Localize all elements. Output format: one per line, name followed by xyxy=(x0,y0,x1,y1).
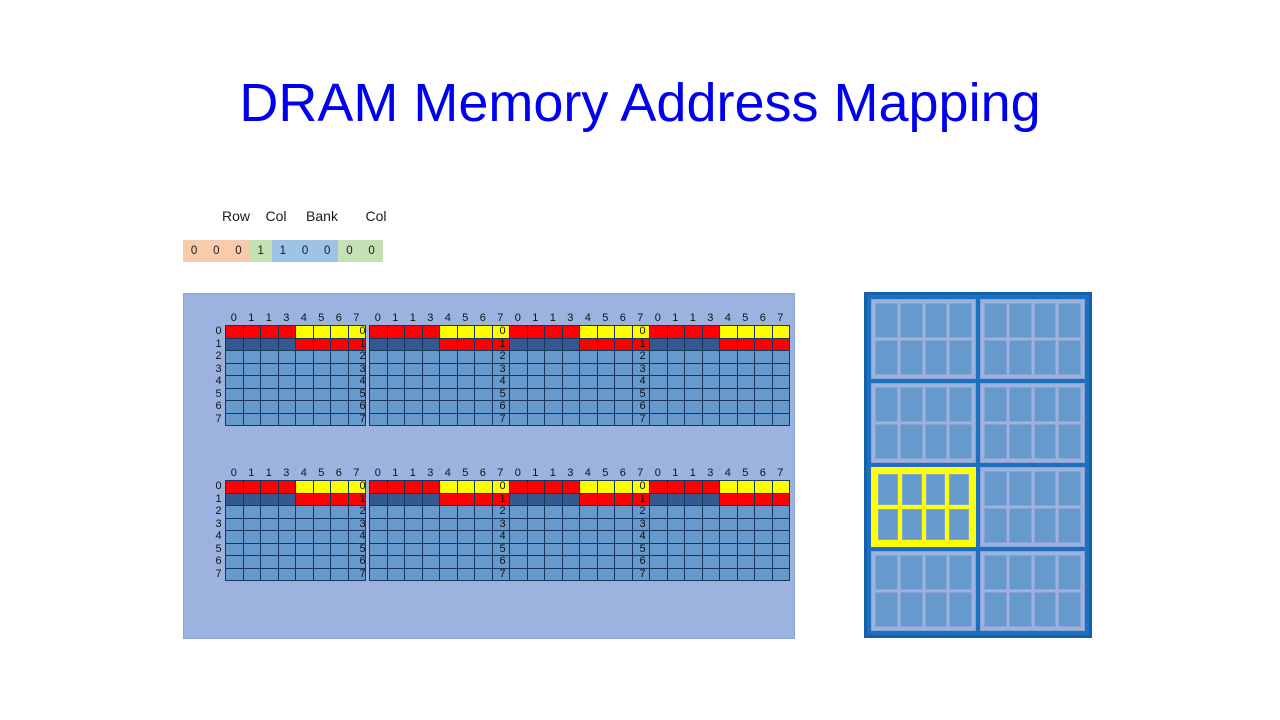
memory-cell-r6c5 xyxy=(738,401,756,414)
memory-cell-r3c6 xyxy=(475,519,493,532)
row-header-column: 01234567 xyxy=(212,325,225,426)
memory-cell-r1c1 xyxy=(668,339,686,352)
chip-subcell-6 xyxy=(926,509,946,540)
chip-subcell-4 xyxy=(875,340,898,375)
column-header-1: 1 xyxy=(243,466,261,480)
memory-cell-r5c2 xyxy=(545,389,563,402)
column-header-6: 6 xyxy=(474,311,492,325)
memory-cell-r2c4 xyxy=(440,351,458,364)
memory-cell-r7c5 xyxy=(314,414,332,427)
memory-cell-r1c2 xyxy=(405,494,423,507)
memory-cell-r4c3 xyxy=(703,376,721,389)
memory-cell-r5c5 xyxy=(458,389,476,402)
memory-cell-r7c4 xyxy=(296,414,314,427)
chip-subcell-2 xyxy=(925,303,948,338)
memory-cell-r7c3 xyxy=(423,414,441,427)
memory-cell-r4c0 xyxy=(370,531,388,544)
memory-cell-r5c0 xyxy=(226,389,244,402)
memory-cell-r6c6 xyxy=(331,401,349,414)
address-mapping-diagram: RowColBankCol 000110000 xyxy=(183,208,405,262)
memory-cell-r0c5 xyxy=(598,326,616,339)
address-bit-6: 0 xyxy=(316,240,338,262)
memory-cell-r6c2 xyxy=(685,401,703,414)
memory-cell-r1c0 xyxy=(510,494,528,507)
memory-cell-r6c0 xyxy=(370,556,388,569)
memory-cell-r0c2 xyxy=(545,481,563,494)
memory-cell-r5c6 xyxy=(331,544,349,557)
column-header-4: 4 xyxy=(295,466,313,480)
memory-cell-r3c0 xyxy=(510,364,528,377)
bank-grid-5: 0113456701234567 xyxy=(356,466,510,581)
memory-cell-r2c4 xyxy=(720,506,738,519)
row-header-3: 3 xyxy=(356,518,369,531)
memory-cell-r2c0 xyxy=(226,351,244,364)
memory-cell-r2c6 xyxy=(331,506,349,519)
memory-cell-r6c4 xyxy=(440,401,458,414)
memory-cell-r3c5 xyxy=(598,519,616,532)
memory-cell-r4c2 xyxy=(545,376,563,389)
memory-cell-r5c5 xyxy=(314,544,332,557)
memory-cell-r2c0 xyxy=(370,351,388,364)
memory-cell-r7c2 xyxy=(685,414,703,427)
memory-cell-r0c4 xyxy=(580,326,598,339)
chip-subcell-2 xyxy=(1034,303,1057,338)
chip-subcell-7 xyxy=(1058,592,1081,627)
memory-cell-grid xyxy=(649,480,790,581)
row-header-6: 6 xyxy=(356,555,369,568)
column-header-7: 7 xyxy=(772,311,790,325)
memory-cell-r6c4 xyxy=(580,401,598,414)
memory-cell-r7c5 xyxy=(738,569,756,582)
row-header-7: 7 xyxy=(212,413,225,426)
memory-cell-r0c0 xyxy=(226,326,244,339)
memory-cell-r6c3 xyxy=(423,556,441,569)
memory-cell-r6c3 xyxy=(563,401,581,414)
memory-cell-r0c2 xyxy=(545,326,563,339)
chip-subcell-1 xyxy=(1009,555,1032,590)
chip-subcell-5 xyxy=(900,340,923,375)
memory-cell-r6c5 xyxy=(598,401,616,414)
address-bit-7: 0 xyxy=(338,240,360,262)
column-header-5: 5 xyxy=(737,466,755,480)
memory-cell-r3c5 xyxy=(458,519,476,532)
memory-cell-r2c2 xyxy=(685,351,703,364)
memory-cell-r2c6 xyxy=(475,506,493,519)
memory-cell-r1c1 xyxy=(388,494,406,507)
memory-cell-r2c2 xyxy=(685,506,703,519)
memory-cell-r4c0 xyxy=(650,376,668,389)
memory-cell-r6c0 xyxy=(226,401,244,414)
memory-cell-r1c3 xyxy=(563,494,581,507)
memory-cell-r5c1 xyxy=(668,544,686,557)
memory-cell-r2c1 xyxy=(388,506,406,519)
chip-subcell-1 xyxy=(900,303,923,338)
chip-subcell-4 xyxy=(984,508,1007,543)
memory-cell-r7c7 xyxy=(773,414,791,427)
memory-cell-r2c4 xyxy=(296,506,314,519)
memory-cell-r5c0 xyxy=(650,389,668,402)
bank-grid-7: 0113456701234567 xyxy=(636,466,790,581)
memory-cell-r3c2 xyxy=(261,519,279,532)
memory-cell-r3c1 xyxy=(668,364,686,377)
memory-cell-r6c1 xyxy=(668,556,686,569)
memory-cell-r3c5 xyxy=(738,364,756,377)
memory-cell-r2c0 xyxy=(650,506,668,519)
chip-subcell-3 xyxy=(1058,387,1081,422)
chip-subcell-4 xyxy=(984,424,1007,459)
memory-cell-r0c3 xyxy=(563,481,581,494)
chip-subcell-5 xyxy=(1009,592,1032,627)
memory-cell-r4c0 xyxy=(510,531,528,544)
chip-subcell-2 xyxy=(1034,555,1057,590)
bank-grid-0: 0113456701234567 xyxy=(212,311,366,426)
memory-cell-r7c1 xyxy=(244,569,262,582)
memory-cell-r2c5 xyxy=(314,506,332,519)
column-header-6: 6 xyxy=(330,311,348,325)
memory-cell-r6c0 xyxy=(370,401,388,414)
memory-cell-grid xyxy=(369,325,510,426)
memory-cell-r4c0 xyxy=(226,531,244,544)
row-header-2: 2 xyxy=(636,505,649,518)
chip-subcell-4 xyxy=(984,592,1007,627)
memory-cell-r0c1 xyxy=(244,481,262,494)
memory-cell-r5c6 xyxy=(331,389,349,402)
memory-cell-r2c1 xyxy=(528,506,546,519)
memory-cell-r2c4 xyxy=(580,351,598,364)
memory-cell-r1c5 xyxy=(458,494,476,507)
memory-cell-r0c2 xyxy=(261,481,279,494)
memory-cell-r0c4 xyxy=(720,481,738,494)
page-title: DRAM Memory Address Mapping xyxy=(0,72,1280,134)
memory-cell-r3c6 xyxy=(475,364,493,377)
column-header-0: 0 xyxy=(649,311,667,325)
memory-cell-r5c0 xyxy=(370,544,388,557)
row-header-0: 0 xyxy=(496,480,509,493)
memory-cell-r3c6 xyxy=(331,364,349,377)
row-header-0: 0 xyxy=(636,480,649,493)
memory-cell-r4c5 xyxy=(458,376,476,389)
memory-cell-r1c4 xyxy=(720,339,738,352)
memory-cell-r0c0 xyxy=(650,326,668,339)
column-header-row: 01134567 xyxy=(225,311,366,325)
address-bit-row: 000110000 xyxy=(183,240,405,262)
memory-cell-r4c2 xyxy=(405,531,423,544)
memory-cell-r2c0 xyxy=(370,506,388,519)
address-bit-8: 0 xyxy=(361,240,383,262)
column-header-0: 0 xyxy=(225,311,243,325)
chip-block-r0c0 xyxy=(871,299,976,379)
chip-subcell-5 xyxy=(900,592,923,627)
memory-cell-r6c6 xyxy=(755,556,773,569)
memory-cell-r4c6 xyxy=(755,376,773,389)
address-field-label-bank-2: Bank xyxy=(289,208,355,224)
row-header-column: 01234567 xyxy=(636,325,649,426)
chip-subcell-2 xyxy=(1034,387,1057,422)
memory-cell-r0c4 xyxy=(440,481,458,494)
memory-cell-r2c5 xyxy=(598,351,616,364)
memory-cell-r7c5 xyxy=(738,414,756,427)
memory-cell-r5c2 xyxy=(545,544,563,557)
row-header-1: 1 xyxy=(212,493,225,506)
column-header-row: 01134567 xyxy=(509,466,650,480)
memory-cell-r0c4 xyxy=(720,326,738,339)
row-header-4: 4 xyxy=(356,530,369,543)
memory-cell-r3c2 xyxy=(545,364,563,377)
memory-cell-r5c3 xyxy=(563,389,581,402)
memory-cell-r0c7 xyxy=(773,481,791,494)
memory-cell-r7c6 xyxy=(331,569,349,582)
memory-cell-r4c3 xyxy=(423,531,441,544)
row-header-3: 3 xyxy=(636,518,649,531)
memory-cell-r7c3 xyxy=(423,569,441,582)
column-header-2: 1 xyxy=(684,311,702,325)
chip-subcell-5 xyxy=(1009,424,1032,459)
chip-subcell-3 xyxy=(1058,303,1081,338)
memory-cell-r5c4 xyxy=(720,389,738,402)
memory-cell-r5c4 xyxy=(440,389,458,402)
chip-subcell-7 xyxy=(1058,508,1081,543)
memory-cell-r4c6 xyxy=(331,531,349,544)
column-header-row: 01134567 xyxy=(649,311,790,325)
memory-cell-r0c5 xyxy=(458,326,476,339)
memory-cell-r0c2 xyxy=(685,481,703,494)
memory-cell-r0c3 xyxy=(279,481,297,494)
memory-cell-r7c1 xyxy=(244,414,262,427)
address-field-labels: RowColBankCol xyxy=(183,208,405,230)
memory-cell-r1c4 xyxy=(296,339,314,352)
row-header-3: 3 xyxy=(636,363,649,376)
column-header-5: 5 xyxy=(457,311,475,325)
memory-cell-r1c2 xyxy=(685,339,703,352)
memory-cell-r5c6 xyxy=(755,389,773,402)
memory-cell-r1c6 xyxy=(615,339,633,352)
column-header-row: 01134567 xyxy=(509,311,650,325)
memory-cell-r2c5 xyxy=(458,506,476,519)
memory-cell-r1c0 xyxy=(226,339,244,352)
memory-cell-r6c6 xyxy=(615,401,633,414)
chip-subcell-6 xyxy=(925,424,948,459)
memory-cell-r4c0 xyxy=(370,376,388,389)
chip-subcell-7 xyxy=(949,592,972,627)
memory-cell-r5c2 xyxy=(261,544,279,557)
column-header-3: 3 xyxy=(278,466,296,480)
chip-subcell-2 xyxy=(925,555,948,590)
memory-cell-r4c2 xyxy=(405,376,423,389)
column-header-3: 3 xyxy=(422,311,440,325)
memory-cell-r4c2 xyxy=(261,376,279,389)
memory-cell-r6c4 xyxy=(440,556,458,569)
column-header-6: 6 xyxy=(754,311,772,325)
memory-cell-r3c0 xyxy=(510,519,528,532)
memory-cell-r2c5 xyxy=(598,506,616,519)
column-header-2: 1 xyxy=(544,311,562,325)
memory-cell-r1c2 xyxy=(261,339,279,352)
memory-cell-r4c6 xyxy=(615,376,633,389)
memory-cell-r3c3 xyxy=(563,364,581,377)
memory-cell-r1c6 xyxy=(331,339,349,352)
memory-cell-r4c6 xyxy=(475,531,493,544)
memory-cell-r5c2 xyxy=(685,389,703,402)
row-header-0: 0 xyxy=(356,325,369,338)
memory-cell-r3c4 xyxy=(580,364,598,377)
chip-subcell-7 xyxy=(949,509,969,540)
memory-cell-r0c3 xyxy=(279,326,297,339)
memory-cell-r2c5 xyxy=(314,351,332,364)
memory-cell-r6c2 xyxy=(545,401,563,414)
row-header-5: 5 xyxy=(356,388,369,401)
memory-cell-r5c4 xyxy=(440,544,458,557)
memory-cell-r1c5 xyxy=(314,339,332,352)
row-header-0: 0 xyxy=(636,325,649,338)
memory-cell-r7c5 xyxy=(598,414,616,427)
memory-cell-r2c1 xyxy=(244,506,262,519)
memory-cell-r5c3 xyxy=(423,389,441,402)
row-header-2: 2 xyxy=(356,350,369,363)
memory-cell-r0c6 xyxy=(475,326,493,339)
memory-cell-r3c1 xyxy=(388,519,406,532)
column-header-3: 3 xyxy=(422,466,440,480)
memory-cell-grid xyxy=(369,480,510,581)
row-header-5: 5 xyxy=(212,543,225,556)
chip-subcell-1 xyxy=(1009,387,1032,422)
memory-cell-r0c4 xyxy=(296,326,314,339)
memory-cell-grid xyxy=(225,480,366,581)
memory-cell-r7c6 xyxy=(331,414,349,427)
row-header-column: 01234567 xyxy=(356,325,369,426)
memory-cell-r5c0 xyxy=(650,544,668,557)
memory-cell-r7c1 xyxy=(388,569,406,582)
column-header-3: 3 xyxy=(278,311,296,325)
memory-cell-r6c5 xyxy=(738,556,756,569)
memory-cell-r2c2 xyxy=(261,351,279,364)
memory-cell-r2c2 xyxy=(545,506,563,519)
memory-cell-r6c0 xyxy=(510,556,528,569)
memory-cell-r2c6 xyxy=(331,351,349,364)
chip-subcell-3 xyxy=(1058,471,1081,506)
row-header-4: 4 xyxy=(496,530,509,543)
memory-cell-r6c1 xyxy=(244,556,262,569)
memory-cell-r1c1 xyxy=(244,494,262,507)
memory-cell-r7c4 xyxy=(720,569,738,582)
memory-cell-r4c0 xyxy=(510,376,528,389)
memory-cell-r3c5 xyxy=(738,519,756,532)
memory-cell-r5c4 xyxy=(580,389,598,402)
memory-cell-r7c2 xyxy=(405,569,423,582)
memory-cell-r2c4 xyxy=(720,351,738,364)
memory-cell-r4c6 xyxy=(331,376,349,389)
memory-cell-r7c4 xyxy=(580,414,598,427)
memory-cell-r7c3 xyxy=(563,414,581,427)
memory-cell-r4c3 xyxy=(279,531,297,544)
row-header-7: 7 xyxy=(356,413,369,426)
memory-cell-r4c4 xyxy=(440,376,458,389)
row-header-column: 01234567 xyxy=(496,325,509,426)
address-field-label-row-0: Row xyxy=(203,208,269,224)
memory-cell-r5c4 xyxy=(296,389,314,402)
memory-cell-r1c2 xyxy=(545,339,563,352)
memory-cell-r2c6 xyxy=(755,351,773,364)
row-header-1: 1 xyxy=(356,338,369,351)
column-header-0: 0 xyxy=(369,466,387,480)
memory-cell-r6c2 xyxy=(261,556,279,569)
row-header-4: 4 xyxy=(212,530,225,543)
chip-subcell-4 xyxy=(878,509,898,540)
memory-cell-r6c0 xyxy=(650,401,668,414)
chip-subcell-2 xyxy=(925,387,948,422)
chip-subcell-6 xyxy=(925,340,948,375)
memory-cell-r1c2 xyxy=(685,494,703,507)
memory-cell-r2c1 xyxy=(668,506,686,519)
memory-cell-r2c5 xyxy=(458,351,476,364)
address-bit-2: 0 xyxy=(227,240,249,262)
memory-cell-r7c0 xyxy=(370,414,388,427)
memory-cell-r0c1 xyxy=(668,481,686,494)
memory-cell-r0c4 xyxy=(296,481,314,494)
memory-cell-r7c3 xyxy=(703,569,721,582)
memory-cell-r5c6 xyxy=(475,544,493,557)
memory-cell-r6c0 xyxy=(650,556,668,569)
chip-block-r1c0 xyxy=(871,383,976,463)
memory-cell-r1c5 xyxy=(738,339,756,352)
column-header-5: 5 xyxy=(737,311,755,325)
column-header-6: 6 xyxy=(474,466,492,480)
memory-cell-r2c2 xyxy=(261,506,279,519)
address-bit-3: 1 xyxy=(250,240,272,262)
memory-cell-r5c5 xyxy=(458,544,476,557)
memory-cell-r7c2 xyxy=(405,414,423,427)
row-header-5: 5 xyxy=(496,543,509,556)
memory-cell-r3c0 xyxy=(226,364,244,377)
memory-cell-r5c5 xyxy=(314,389,332,402)
memory-cell-r6c3 xyxy=(423,401,441,414)
memory-cell-r2c1 xyxy=(528,351,546,364)
memory-cell-r5c5 xyxy=(738,544,756,557)
memory-cell-r0c2 xyxy=(685,326,703,339)
memory-cell-r3c4 xyxy=(720,364,738,377)
memory-cell-r2c1 xyxy=(388,351,406,364)
chip-subcell-0 xyxy=(984,555,1007,590)
memory-cell-r0c1 xyxy=(388,326,406,339)
memory-cell-r7c1 xyxy=(668,414,686,427)
memory-cell-r1c4 xyxy=(440,339,458,352)
memory-cell-r5c1 xyxy=(668,389,686,402)
memory-cell-r1c3 xyxy=(703,339,721,352)
memory-cell-r6c2 xyxy=(545,556,563,569)
row-header-7: 7 xyxy=(496,413,509,426)
chip-subcell-0 xyxy=(984,303,1007,338)
memory-cell-r1c6 xyxy=(331,494,349,507)
memory-cell-r2c4 xyxy=(440,506,458,519)
row-header-3: 3 xyxy=(356,363,369,376)
chip-subcell-3 xyxy=(949,303,972,338)
memory-cell-r2c3 xyxy=(423,506,441,519)
column-header-2: 1 xyxy=(260,466,278,480)
memory-cell-r0c1 xyxy=(528,326,546,339)
memory-cell-r4c7 xyxy=(773,531,791,544)
memory-cell-r6c6 xyxy=(331,556,349,569)
memory-cell-r0c1 xyxy=(244,326,262,339)
memory-cell-r0c0 xyxy=(650,481,668,494)
memory-cell-grid xyxy=(509,480,650,581)
memory-cell-r0c5 xyxy=(738,481,756,494)
memory-cell-r6c5 xyxy=(314,556,332,569)
memory-cell-r2c2 xyxy=(405,506,423,519)
memory-cell-r7c3 xyxy=(279,414,297,427)
column-header-4: 4 xyxy=(719,466,737,480)
memory-cell-r1c1 xyxy=(244,339,262,352)
memory-cell-r5c6 xyxy=(755,544,773,557)
memory-cell-r1c7 xyxy=(773,494,791,507)
